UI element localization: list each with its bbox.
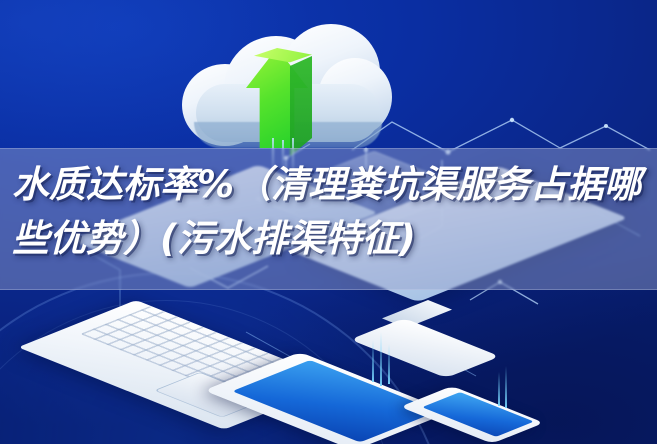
device-beam (505, 366, 507, 408)
banner-image: 水质达标率%（清理粪坑渠服务占据哪 些优势）(污水排渠特征) (0, 0, 657, 444)
device-beam (498, 372, 500, 406)
title-line-2: 些优势）(污水排渠特征) (12, 212, 652, 266)
page-title: 水质达标率%（清理粪坑渠服务占据哪 些优势）(污水排渠特征) (12, 158, 652, 266)
upload-arrow-icon (246, 48, 330, 152)
device-beam (372, 340, 374, 382)
device-beam (380, 332, 382, 386)
device-beam (388, 344, 390, 384)
title-line-1: 水质达标率%（清理粪坑渠服务占据哪 (12, 158, 652, 212)
